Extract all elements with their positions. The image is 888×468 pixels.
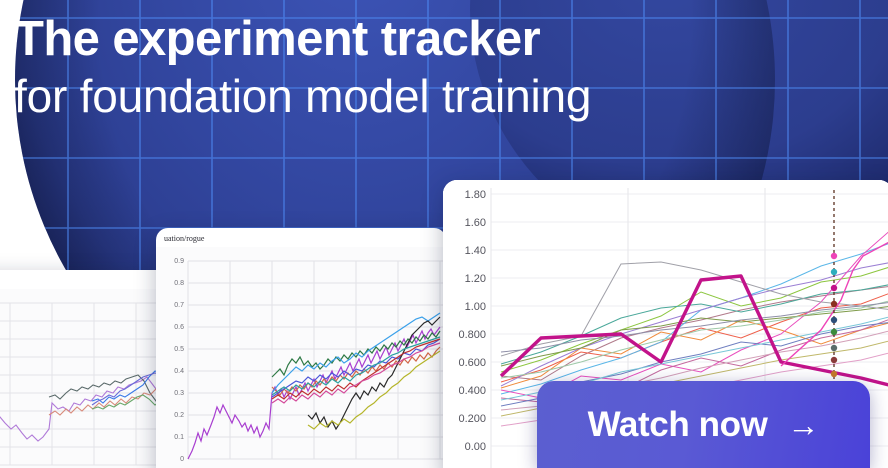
svg-text:0.3: 0.3 bbox=[174, 390, 184, 397]
svg-text:0.7: 0.7 bbox=[174, 302, 184, 309]
chart-panel-left-title: on/rogue bbox=[0, 270, 172, 289]
svg-text:0.8: 0.8 bbox=[174, 280, 184, 287]
svg-text:0.00: 0.00 bbox=[465, 441, 486, 453]
svg-text:0.6: 0.6 bbox=[174, 324, 184, 331]
svg-text:1.80: 1.80 bbox=[465, 189, 486, 201]
svg-text:0.800: 0.800 bbox=[458, 329, 486, 341]
svg-text:1.60: 1.60 bbox=[465, 217, 486, 229]
svg-text:0.1: 0.1 bbox=[174, 434, 184, 441]
svg-text:0.4: 0.4 bbox=[174, 368, 184, 375]
svg-text:0: 0 bbox=[180, 456, 184, 463]
svg-text:0.5: 0.5 bbox=[174, 346, 184, 353]
svg-text:1.40: 1.40 bbox=[465, 245, 486, 257]
svg-text:1.00: 1.00 bbox=[465, 301, 486, 313]
hero-banner: The experiment tracker for foundation mo… bbox=[0, 0, 888, 468]
svg-text:1.20: 1.20 bbox=[465, 273, 486, 285]
svg-text:0.400: 0.400 bbox=[458, 385, 486, 397]
svg-text:0.9: 0.9 bbox=[174, 258, 184, 265]
chart-panel-middle-body: 0.90.8 0.70.6 0.50.4 0.30.2 0.10 05k 10k… bbox=[156, 247, 446, 468]
chart-panel-left[interactable]: on/rogue bbox=[0, 270, 172, 468]
chart-left-svg: 0.90.8 0.70.6 0.50.4 0.30.2 0.10 05k 10k… bbox=[0, 289, 172, 468]
svg-text:0.2: 0.2 bbox=[174, 412, 184, 419]
chart-panel-middle-title: uation/rogue bbox=[156, 228, 446, 247]
watch-now-label: Watch now bbox=[588, 405, 768, 445]
arrow-right-icon: → bbox=[787, 409, 819, 441]
svg-text:0.600: 0.600 bbox=[458, 357, 486, 369]
watch-now-button[interactable]: Watch now → bbox=[537, 381, 870, 468]
chart-panel-left-body: 0.90.8 0.70.6 0.50.4 0.30.2 0.10 05k 10k… bbox=[0, 289, 172, 468]
svg-text:0.200: 0.200 bbox=[458, 413, 486, 425]
chart-panel-middle[interactable]: uation/rogue bbox=[156, 228, 446, 468]
chart-middle-svg: 0.90.8 0.70.6 0.50.4 0.30.2 0.10 05k 10k… bbox=[156, 247, 446, 468]
